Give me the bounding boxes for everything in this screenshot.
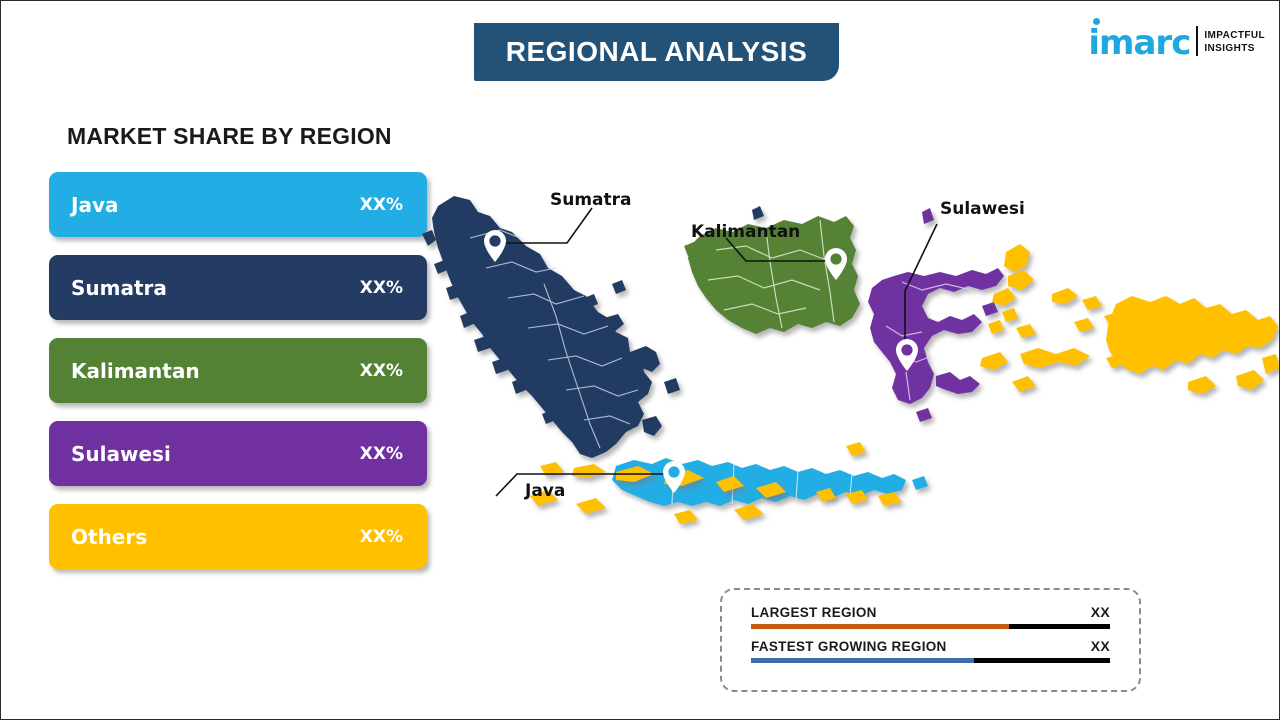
largest-region-label: LARGEST REGION bbox=[751, 605, 877, 620]
logo-tagline-line1: IMPACTFUL bbox=[1204, 30, 1265, 43]
page-title: REGIONAL ANALYSIS bbox=[506, 36, 808, 68]
fastest-growing-region-value: XX bbox=[1091, 638, 1110, 654]
legend-item-value: XX% bbox=[360, 444, 403, 464]
legend-item-value: XX% bbox=[360, 361, 403, 381]
largest-region-progress bbox=[751, 624, 1110, 629]
legend-item-label: Kalimantan bbox=[71, 359, 360, 383]
map-label-kalimantan: Kalimantan bbox=[691, 222, 800, 242]
logo-tagline-line2: INSIGHTS bbox=[1204, 43, 1265, 56]
market-share-legend-list: Java XX% Sumatra XX% Kalimantan XX% Sula… bbox=[49, 172, 427, 587]
legend-item-label: Sulawesi bbox=[71, 442, 360, 466]
legend-item-label: Others bbox=[71, 525, 360, 549]
largest-region-value: XX bbox=[1091, 604, 1110, 620]
legend-item-value: XX% bbox=[360, 278, 403, 298]
map-label-sulawesi: Sulawesi bbox=[940, 199, 1025, 219]
logo-wordmark-text: imarc bbox=[1088, 23, 1190, 63]
logo-wordmark: imarc bbox=[1088, 27, 1190, 59]
page-title-banner: REGIONAL ANALYSIS bbox=[474, 23, 839, 81]
logo-divider bbox=[1196, 26, 1198, 56]
imarc-logo: imarc IMPACTFUL INSIGHTS bbox=[1088, 15, 1265, 59]
logo-tagline: IMPACTFUL INSIGHTS bbox=[1204, 30, 1265, 59]
fastest-growing-region-progress bbox=[751, 658, 1110, 663]
legend-item-label: Java bbox=[71, 193, 360, 217]
map-region-sulawesi[interactable] bbox=[868, 208, 1004, 422]
legend-item-sumatra[interactable]: Sumatra XX% bbox=[49, 255, 427, 320]
region-highlights-box: LARGEST REGION XX FASTEST GROWING REGION… bbox=[720, 588, 1141, 692]
fastest-growing-region-row: FASTEST GROWING REGION XX bbox=[751, 638, 1110, 663]
largest-region-progress-fill bbox=[751, 624, 1009, 629]
map-label-java: Java bbox=[525, 481, 565, 501]
fastest-growing-region-progress-fill bbox=[751, 658, 974, 663]
legend-item-value: XX% bbox=[360, 527, 403, 547]
legend-item-java[interactable]: Java XX% bbox=[49, 172, 427, 237]
market-share-heading: MARKET SHARE BY REGION bbox=[67, 123, 392, 150]
slide-canvas: REGIONAL ANALYSIS imarc IMPACTFUL INSIGH… bbox=[0, 0, 1280, 720]
legend-item-value: XX% bbox=[360, 195, 403, 215]
legend-item-others[interactable]: Others XX% bbox=[49, 504, 427, 569]
map-label-sumatra: Sumatra bbox=[550, 190, 632, 210]
largest-region-row: LARGEST REGION XX bbox=[751, 604, 1110, 629]
fastest-growing-region-header: FASTEST GROWING REGION XX bbox=[751, 638, 1110, 654]
legend-item-label: Sumatra bbox=[71, 276, 360, 300]
largest-region-header: LARGEST REGION XX bbox=[751, 604, 1110, 620]
legend-item-sulawesi[interactable]: Sulawesi XX% bbox=[49, 421, 427, 486]
legend-item-kalimantan[interactable]: Kalimantan XX% bbox=[49, 338, 427, 403]
fastest-growing-region-label: FASTEST GROWING REGION bbox=[751, 639, 947, 654]
